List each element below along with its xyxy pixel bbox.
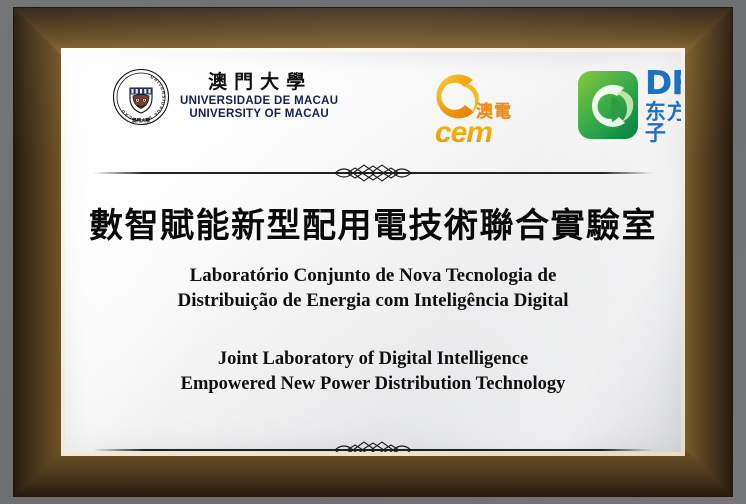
svg-text:澳門大學: 澳門大學: [132, 117, 151, 124]
cem-wordmark: cem: [435, 116, 492, 150]
plaque-board: UNIVERSIDADE DE MACAU: [65, 52, 681, 452]
wooden-frame: UNIVERSIDADE DE MACAU: [13, 7, 733, 497]
title-portuguese-line-1: Laboratório Conjunto de Nova Tecnologia …: [65, 263, 681, 288]
frame-liner: UNIVERSIDADE DE MACAU: [61, 48, 685, 456]
title-english-line-2: Empowered New Power Distribution Technol…: [65, 372, 681, 397]
um-crest-icon: UNIVERSIDADE DE MACAU: [111, 66, 171, 128]
logo-row: UNIVERSIDADE DE MACAU: [65, 62, 681, 150]
diamond-knot-ornament-top-icon: [325, 160, 421, 186]
dfe-wordmark: DFE: [645, 66, 681, 99]
um-chinese-name: 澳門大學: [182, 73, 338, 93]
plaque-scene: UNIVERSIDADE DE MACAU: [0, 0, 746, 504]
um-english-name: UNIVERSITY OF MACAU: [180, 108, 338, 120]
divider-top: [93, 160, 653, 186]
page-title-chinese: 數智賦能新型配用電技術聯合實驗室: [65, 198, 681, 247]
dfe-chinese-name: 东方电子: [645, 102, 681, 144]
page-title-portuguese: Laboratório Conjunto de Nova Tecnologia …: [65, 263, 681, 313]
divider-bottom: [93, 437, 653, 452]
title-portuguese-line-2: Distribuição de Energia com Inteligência…: [65, 288, 681, 313]
logo-university-of-macau: UNIVERSIDADE DE MACAU: [111, 66, 338, 128]
page-title-english: Joint Laboratory of Digital Intelligence…: [65, 347, 681, 397]
logo-dfe: DFE 东方电子: [578, 66, 681, 144]
um-portuguese-name: UNIVERSIDADE DE MACAU: [180, 95, 338, 107]
title-english-line-1: Joint Laboratory of Digital Intelligence: [65, 347, 681, 372]
diamond-knot-ornament-bottom-icon: [325, 437, 421, 452]
dfe-leaf-icon: [578, 71, 638, 139]
logo-cem: 澳電 cem: [421, 64, 525, 148]
